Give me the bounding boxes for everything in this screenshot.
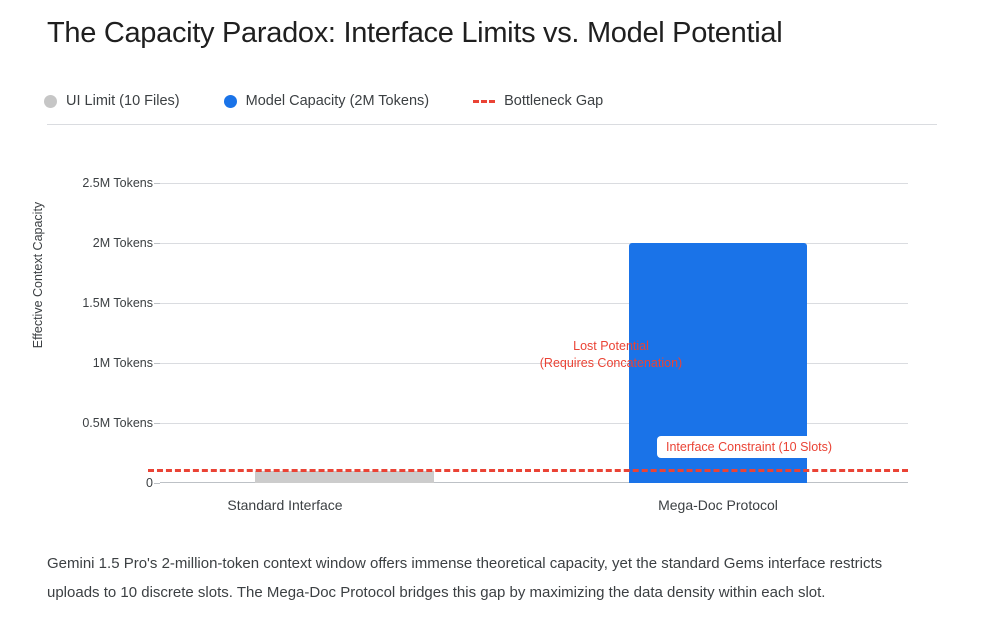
y-tick-label: 2.5M Tokens	[82, 176, 153, 190]
tick-mark-2000000	[154, 243, 160, 244]
annotation-interface-constraint: Interface Constraint (10 Slots)	[657, 436, 841, 458]
gridline-2500000	[160, 183, 908, 184]
y-tick-label: 2M Tokens	[93, 236, 153, 250]
tick-mark-0	[154, 483, 160, 484]
y-tick-label: 1M Tokens	[93, 356, 153, 370]
tick-mark-1500000	[154, 303, 160, 304]
plot-area: 2.5M Tokens 2M Tokens 1.5M Tokens 1M Tok…	[160, 183, 908, 483]
annotation-lost-potential-line2: (Requires Concatenation)	[501, 355, 721, 372]
chart-plot: Effective Context Capacity 2.5M Tokens 2…	[0, 0, 984, 629]
tick-mark-500000	[154, 423, 160, 424]
x-axis-label-standard-interface: Standard Interface	[185, 497, 385, 513]
bottleneck-gap-threshold-line	[148, 469, 908, 472]
y-tick-label: 0	[146, 476, 153, 490]
y-axis-title: Effective Context Capacity	[31, 185, 45, 365]
bar-standard-interface-ui-limit[interactable]	[255, 471, 434, 483]
tick-mark-2500000	[154, 183, 160, 184]
tick-mark-1000000	[154, 363, 160, 364]
y-tick-label: 0.5M Tokens	[82, 416, 153, 430]
chart-page: The Capacity Paradox: Interface Limits v…	[0, 0, 984, 629]
footer-note: Gemini 1.5 Pro's 2-million-token context…	[47, 549, 902, 607]
x-axis-label-mega-doc-protocol: Mega-Doc Protocol	[618, 497, 818, 513]
annotation-lost-potential: Lost Potential (Requires Concatenation)	[501, 338, 721, 372]
y-tick-label: 1.5M Tokens	[82, 296, 153, 310]
annotation-lost-potential-line1: Lost Potential	[501, 338, 721, 355]
